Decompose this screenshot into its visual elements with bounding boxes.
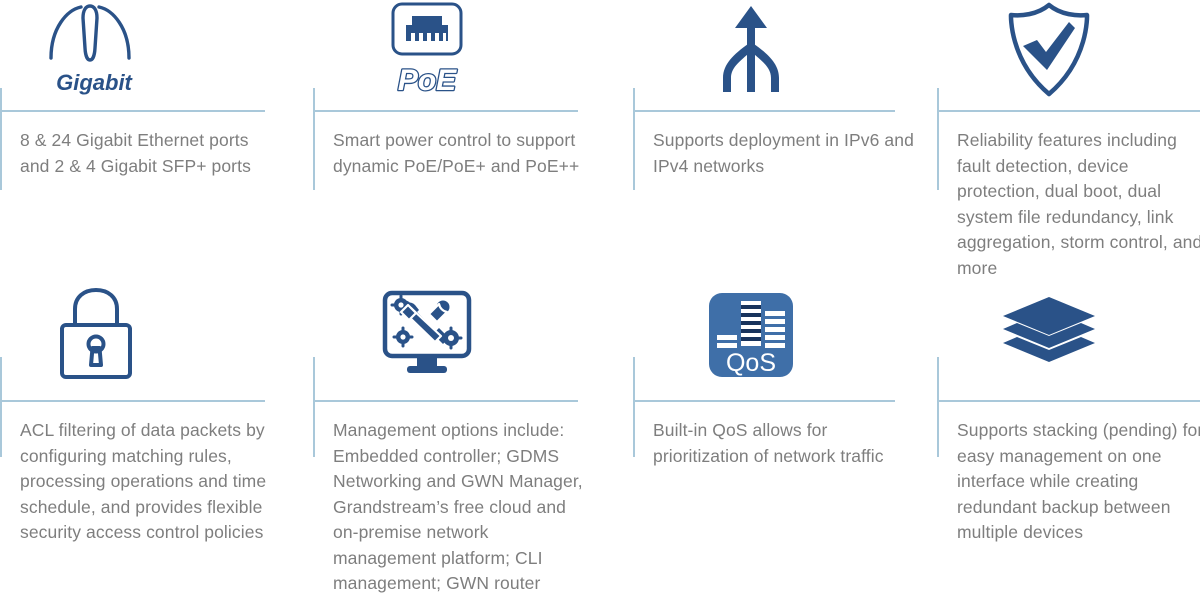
card-horizontal-rule [633,110,895,112]
card-vertical-rule [937,88,939,190]
card-horizontal-rule [0,110,265,112]
qos-equalizer-icon-wrap: QoS [661,275,841,395]
feature-description: Supports deployment in IPv6 and IPv4 net… [653,128,915,179]
feature-card-ip-deployment: Supports deployment in IPv6 and IPv4 net… [633,0,937,275]
feature-grid: Gigabit 8 & 24 Gigabit Ethernet ports an… [0,0,1200,568]
card-horizontal-rule [313,400,578,402]
card-horizontal-rule [937,400,1200,402]
qos-icon-label: QoS [726,349,776,377]
monitor-tools-icon-wrap [337,275,517,395]
feature-description: Supports stacking (pending) for easy man… [957,418,1200,546]
card-vertical-rule [313,88,315,190]
card-vertical-rule [633,88,635,190]
feature-description: Management options include: Embedded con… [333,418,595,597]
gigabit-icon: Gigabit [31,2,161,98]
card-horizontal-rule [937,110,1200,112]
feature-description: Smart power control to support dynamic P… [333,128,595,179]
feature-card-reliability: Reliability features including fault det… [937,0,1200,275]
monitor-tools-icon [381,290,473,380]
poe-icon-wrap: PoE [337,0,517,100]
padlock-icon [56,287,136,383]
feature-description: ACL filtering of data packets by configu… [20,418,282,546]
feature-description: Built-in QoS allows for prioritization o… [653,418,915,469]
feature-card-stacking: Supports stacking (pending) for easy man… [937,275,1200,568]
card-vertical-rule [313,357,315,457]
padlock-icon-wrap [6,275,186,395]
qos-equalizer-icon: QoS [707,291,795,379]
layers-stack-icon-wrap [959,275,1139,395]
layers-stack-icon [1001,295,1097,375]
feature-card-acl: ACL filtering of data packets by configu… [0,275,313,568]
poe-icon-label: PoE [398,64,457,97]
poe-icon: PoE [379,2,475,98]
feature-row-1: Gigabit 8 & 24 Gigabit Ethernet ports an… [0,0,1200,275]
card-vertical-rule [633,357,635,457]
shield-check-icon-wrap [959,0,1139,100]
card-horizontal-rule [313,110,578,112]
feature-row-2: ACL filtering of data packets by configu… [0,275,1200,568]
gigabit-icon-wrap: Gigabit [6,0,186,100]
feature-card-gigabit: Gigabit 8 & 24 Gigabit Ethernet ports an… [0,0,313,275]
feature-description: Reliability features including fault det… [957,128,1200,281]
card-horizontal-rule [0,400,265,402]
card-vertical-rule [0,357,2,457]
feature-card-qos: QoS Built-in QoS allows for prioritizati… [633,275,937,568]
shield-check-icon [1003,2,1095,98]
feature-card-poe: PoE Smart power control to support dynam… [313,0,633,275]
card-horizontal-rule [633,400,895,402]
merging-arrows-icon [709,4,793,96]
card-vertical-rule [937,357,939,457]
card-vertical-rule [0,88,2,190]
feature-card-management: Management options include: Embedded con… [313,275,633,568]
feature-description: 8 & 24 Gigabit Ethernet ports and 2 & 4 … [20,128,282,179]
gigabit-icon-label: Gigabit [56,70,133,95]
merging-arrows-icon-wrap [661,0,841,100]
